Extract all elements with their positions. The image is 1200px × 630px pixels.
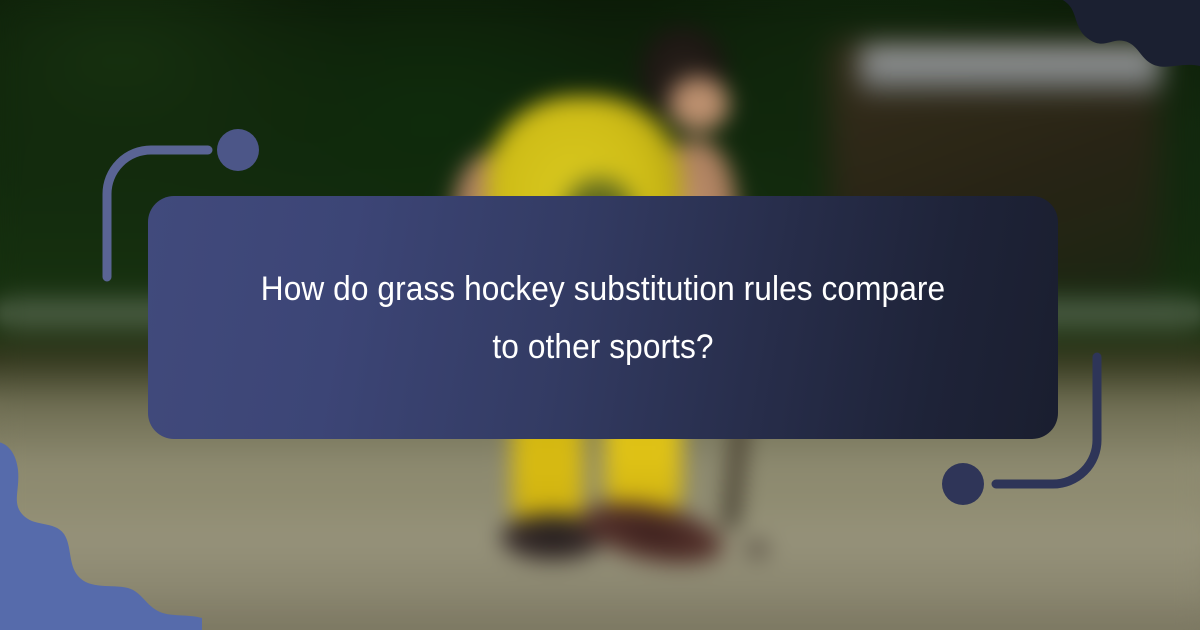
dot-bottom-right-icon xyxy=(942,463,984,505)
card-title: How do grass hockey substitution rules c… xyxy=(250,260,957,376)
dot-top-left-icon xyxy=(217,129,259,171)
blob-top-right-icon xyxy=(1000,0,1200,114)
social-card-canvas: How do grass hockey substitution rules c… xyxy=(0,0,1200,630)
blob-bottom-left-icon xyxy=(0,436,202,630)
headline-card: How do grass hockey substitution rules c… xyxy=(148,196,1058,439)
